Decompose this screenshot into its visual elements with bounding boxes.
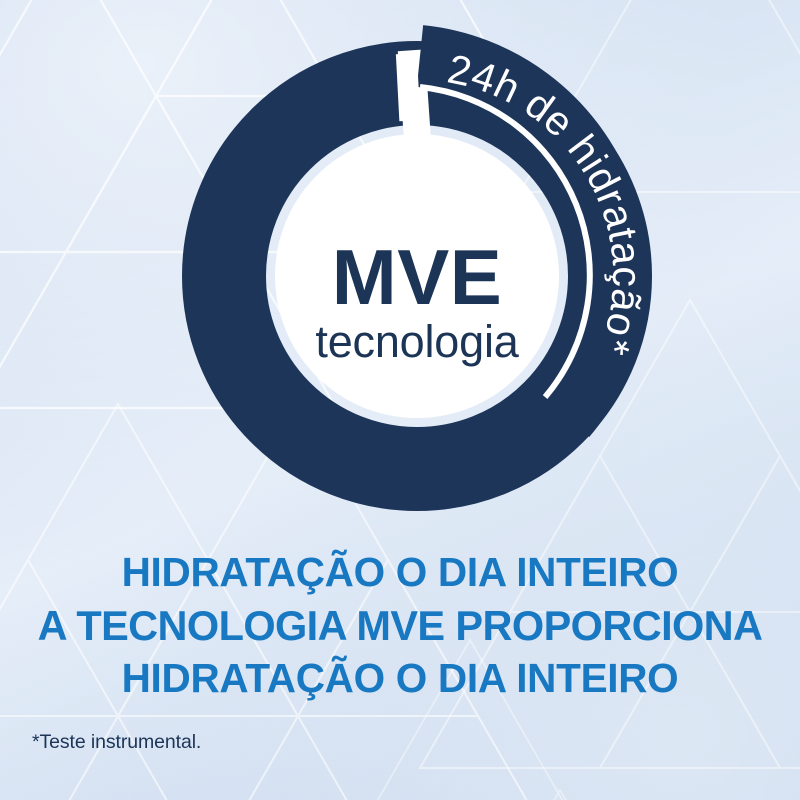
badge-title: MVE	[332, 233, 503, 321]
footnote: *Teste instrumental.	[32, 731, 201, 754]
headline-line-2: A TECNOLOGIA MVE PROPORCIONA	[0, 599, 800, 652]
headline-line-3: HIDRATAÇÃO O DIA INTEIRO	[0, 652, 800, 705]
badge-subtitle: tecnologia	[315, 316, 519, 367]
mve-badge: 24h de hidratação* MVE tecnologia	[185, 44, 649, 508]
headline: HIDRATAÇÃO O DIA INTEIRO A TECNOLOGIA MV…	[0, 546, 800, 705]
headline-line-1: HIDRATAÇÃO O DIA INTEIRO	[0, 546, 800, 599]
promo-banner: 24h de hidratação* MVE tecnologia HIDRAT…	[0, 0, 800, 800]
